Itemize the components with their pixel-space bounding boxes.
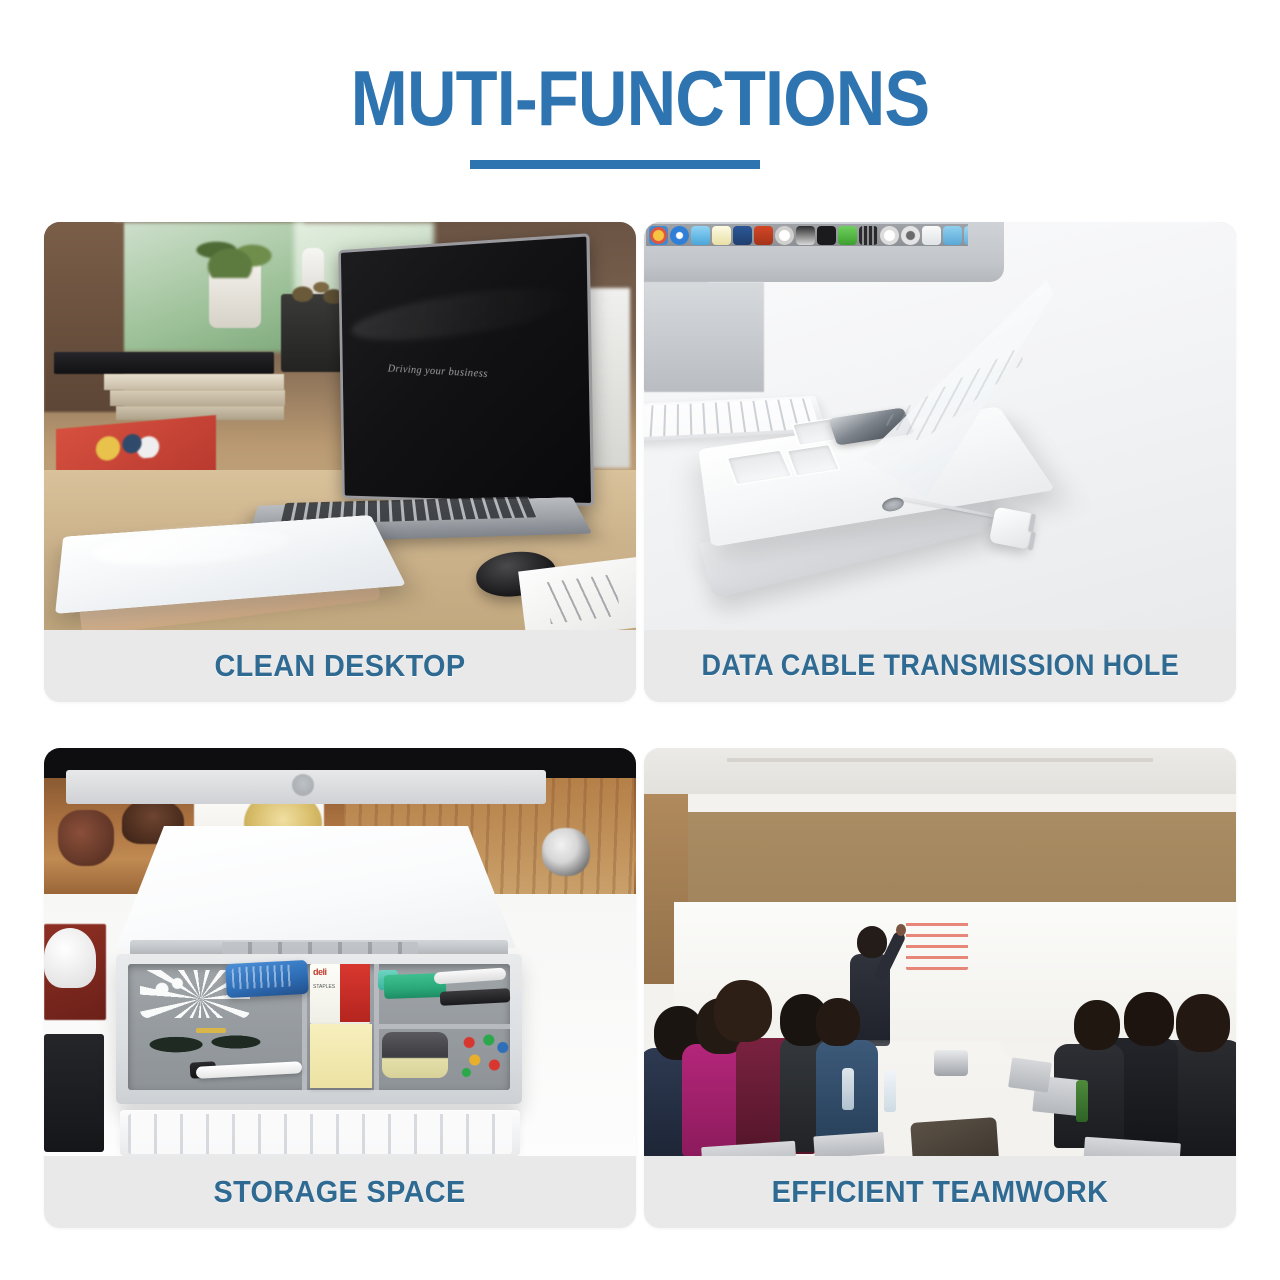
laptop — [813, 1132, 884, 1156]
caption-text: STORAGE SPACE — [214, 1174, 466, 1210]
organizer-cable-scene — [644, 222, 1236, 630]
photos-icon[interactable] — [649, 226, 668, 245]
attendee-head — [1074, 1000, 1120, 1050]
tray-divider-h1 — [374, 1024, 510, 1029]
cat-figurine — [542, 828, 590, 876]
folder-icon[interactable] — [943, 226, 962, 245]
macos-dock[interactable] — [646, 224, 968, 246]
tablet-device — [44, 1034, 104, 1152]
presenter-head — [857, 926, 887, 958]
sunglasses-bridge — [196, 1028, 226, 1033]
screen-text: Driving your business — [388, 363, 554, 384]
paper-writing — [546, 574, 621, 624]
notes-icon[interactable] — [712, 226, 731, 245]
organizer-topdown-scene: deli STAPLES — [44, 748, 636, 1156]
brush-icon[interactable] — [880, 226, 899, 245]
attendee-head — [1124, 992, 1174, 1046]
sticky-note-pad — [310, 1024, 372, 1088]
conference-speaker — [934, 1050, 968, 1076]
feature-card-clean-desktop[interactable]: Driving your business CLEAN DESKTOP — [44, 222, 636, 702]
laptop — [1008, 1057, 1052, 1092]
imac-monitor — [644, 222, 1004, 282]
maps-icon[interactable] — [838, 226, 857, 245]
figurine-left — [58, 810, 114, 866]
apple-logo-icon — [292, 774, 314, 796]
mail-icon[interactable] — [691, 226, 710, 245]
laptop-screen: Driving your business — [338, 233, 594, 506]
photo-data-cable-hole — [644, 222, 1236, 630]
dried-flowers — [284, 262, 346, 308]
hinge-segments — [222, 942, 418, 954]
word-icon[interactable] — [733, 226, 752, 245]
attendee-head — [714, 980, 772, 1042]
book-stack-3 — [110, 390, 285, 406]
wall-wood-band — [674, 812, 1236, 902]
page-title: MUTI-FUNCTIONS — [77, 56, 1203, 140]
caption-text: CLEAN DESKTOP — [214, 648, 465, 684]
photo-clean-desktop: Driving your business — [44, 222, 636, 630]
sunglasses — [138, 1016, 274, 1068]
whiteboard-writing — [906, 916, 968, 970]
feature-card-storage-space[interactable]: deli STAPLES STORAGE SPACE — [44, 748, 636, 1228]
title-underline — [470, 160, 760, 169]
attendee-head — [816, 998, 860, 1046]
page-header: MUTI-FUNCTIONS — [0, 56, 1280, 140]
keyboard-keys — [128, 1114, 512, 1154]
staples-product-label: STAPLES — [313, 984, 343, 990]
paper-clips — [458, 1030, 514, 1080]
stapler-grip — [231, 964, 292, 989]
water-bottle — [884, 1070, 896, 1112]
eraser — [382, 1032, 448, 1078]
presenter-hand — [896, 924, 906, 936]
screen-glare — [349, 277, 574, 349]
feature-grid: Driving your business CLEAN DESKTOP — [44, 222, 1236, 1228]
photo-storage-space: deli STAPLES — [44, 748, 636, 1156]
caption-bar-data-cable-hole: DATA CABLE TRANSMISSION HOLE — [644, 630, 1236, 702]
coffee-mug — [44, 928, 96, 988]
settings-icon[interactable] — [901, 226, 920, 245]
bag-on-table — [910, 1117, 1000, 1156]
plant-leaves — [194, 222, 284, 278]
powerpoint-icon[interactable] — [754, 226, 773, 245]
feature-card-efficient-teamwork[interactable]: EFFICIENT TEAMWORK — [644, 748, 1236, 1228]
desk-scene: Driving your business — [44, 222, 636, 630]
staples-brand-label: deli — [313, 967, 341, 977]
feature-card-data-cable-transmission-hole[interactable]: DATA CABLE TRANSMISSION HOLE — [644, 222, 1236, 702]
caption-text: EFFICIENT TEAMWORK — [772, 1174, 1109, 1210]
caption-bar-storage-space: STORAGE SPACE — [44, 1156, 636, 1228]
video-icon[interactable] — [796, 226, 815, 245]
lightroom-icon[interactable] — [817, 226, 836, 245]
green-bottle — [1076, 1080, 1088, 1122]
app-store-icon[interactable] — [670, 226, 689, 245]
caption-text: DATA CABLE TRANSMISSION HOLE — [701, 649, 1179, 683]
imac-screen-reflection — [644, 282, 764, 392]
ceiling-light — [727, 758, 1153, 762]
numbers-icon[interactable] — [922, 226, 941, 245]
acrobat-icon[interactable] — [775, 226, 794, 245]
photo-efficient-teamwork — [644, 748, 1236, 1156]
book-stack-top — [54, 352, 274, 374]
caption-bar-clean-desktop: CLEAN DESKTOP — [44, 630, 636, 702]
book-stack-2 — [104, 374, 284, 390]
calculator-icon[interactable] — [859, 226, 878, 245]
water-bottle — [842, 1068, 854, 1110]
pictures-icon[interactable] — [964, 226, 968, 245]
attendee-head — [1176, 994, 1230, 1052]
ceiling — [644, 748, 1236, 794]
organizer-lid-raised — [116, 826, 516, 948]
caption-bar-efficient-teamwork: EFFICIENT TEAMWORK — [644, 1156, 1236, 1228]
meeting-room-scene — [644, 748, 1236, 1156]
staples-box-red-panel — [340, 964, 370, 1022]
